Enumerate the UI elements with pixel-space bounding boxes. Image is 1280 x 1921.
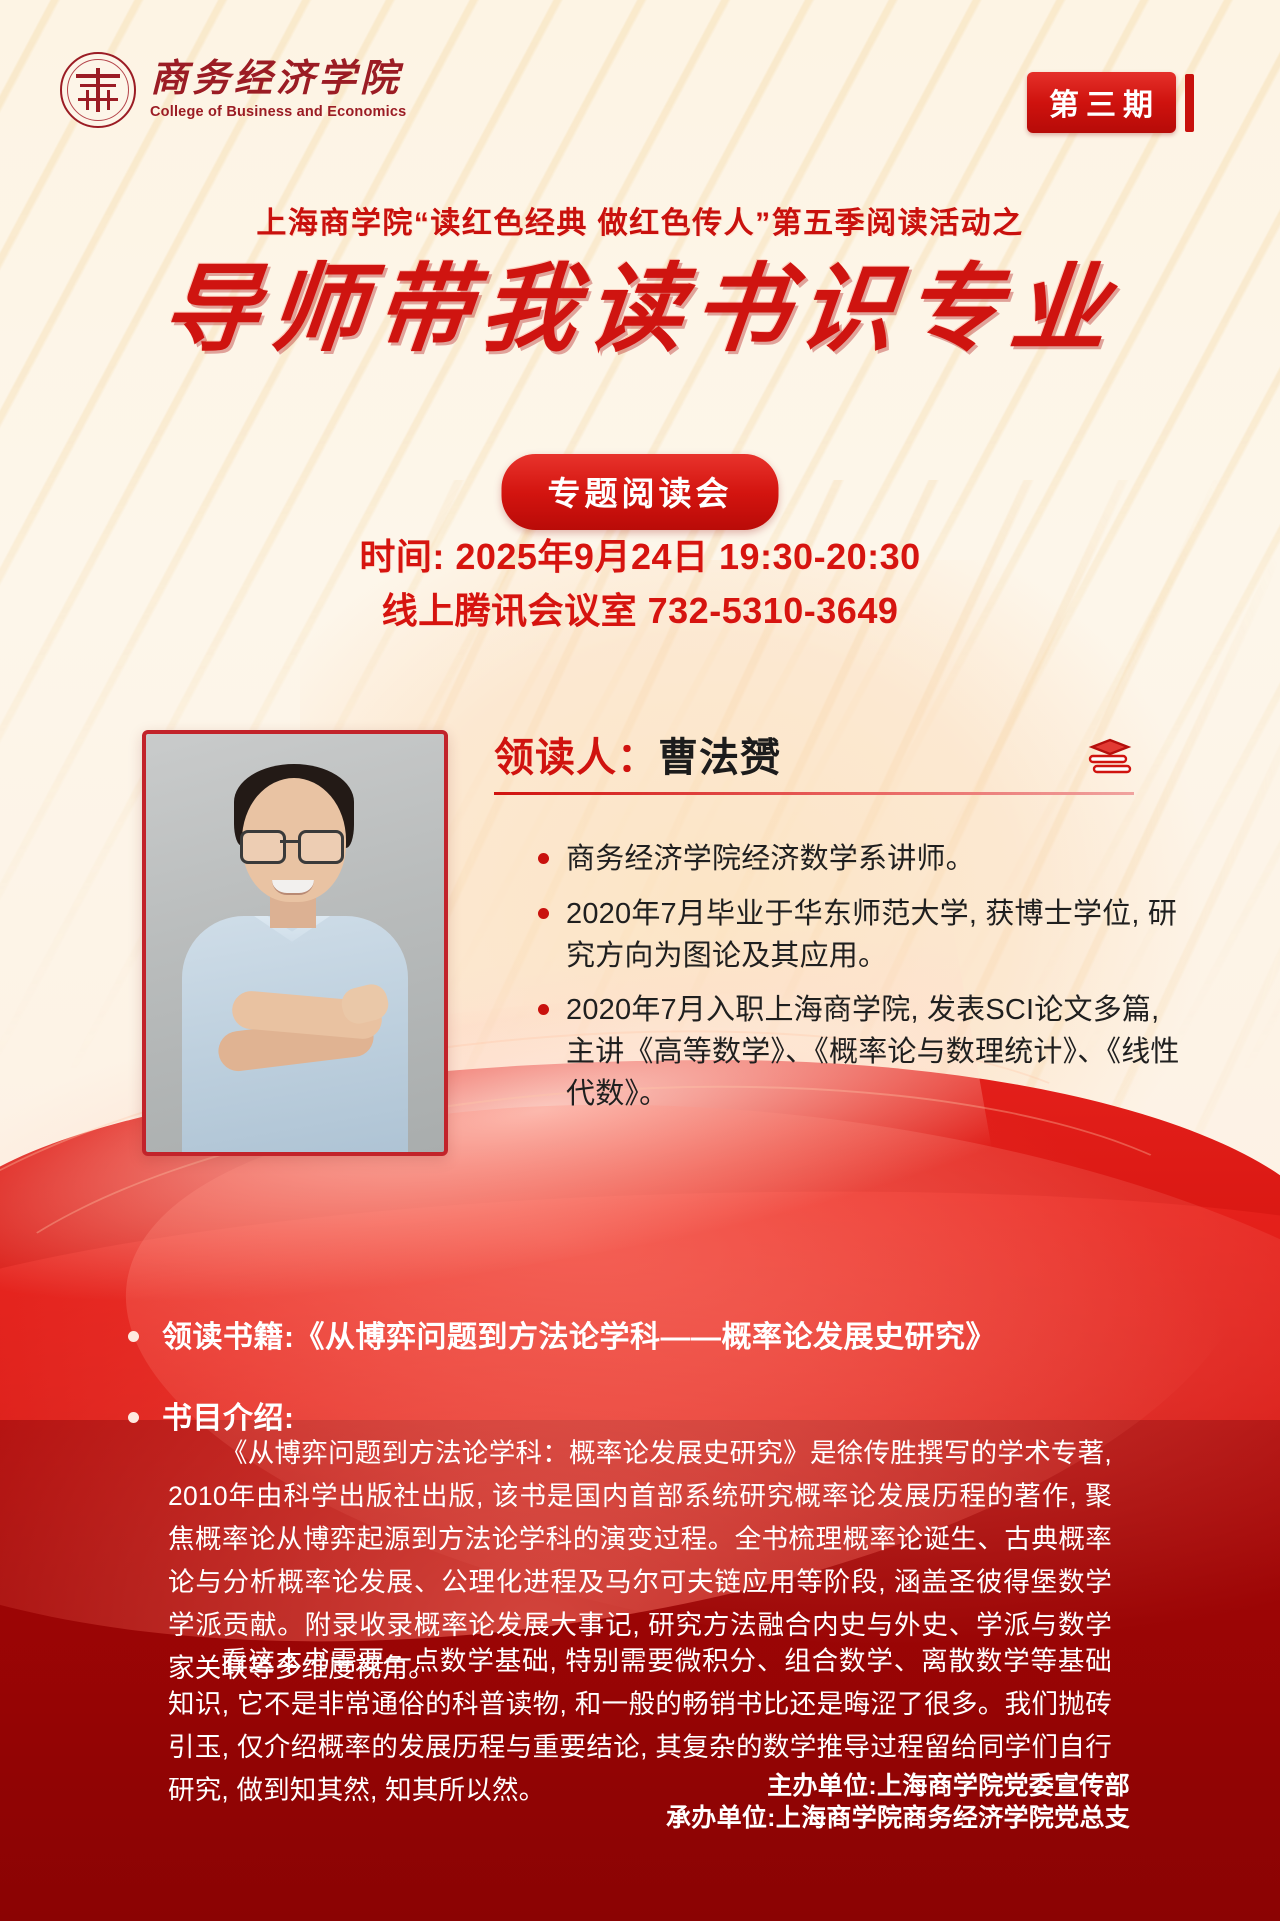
photo-glasses-left bbox=[240, 830, 286, 864]
logo-english-name: College of Business and Economics bbox=[150, 104, 406, 120]
book-title-bullet: 领读书籍:《从博弈问题到方法论学科——概率论发展史研究》 bbox=[124, 1318, 1164, 1357]
college-logo: 商务经济学院 College of Business and Economics bbox=[60, 52, 406, 128]
issue-badge: 第三期 bbox=[1027, 72, 1194, 133]
poster-root: 商务经济学院 College of Business and Economics… bbox=[0, 0, 1280, 1921]
speaker-title: 领读人：曹法赟 bbox=[494, 738, 781, 778]
list-item: 2020年7月毕业于华东师范大学, 获博士学位, 研究方向为图论及其应用。 bbox=[534, 894, 1184, 978]
photo-glasses-bridge bbox=[280, 840, 298, 843]
event-venue: 线上腾讯会议室 732-5310-3649 bbox=[0, 582, 1280, 634]
logo-chinese-name: 商务经济学院 bbox=[150, 60, 406, 100]
event-time: 时间: 2025年9月24日 19:30-20:30 bbox=[0, 528, 1280, 580]
speaker-divider bbox=[494, 792, 1134, 795]
issue-badge-bar bbox=[1185, 74, 1194, 132]
speaker-role-label: 领读人： bbox=[494, 736, 658, 780]
event-type-pill: 专题阅读会 bbox=[502, 454, 779, 530]
seal-glyph bbox=[76, 68, 120, 112]
list-item: 2020年7月入职上海商学院, 发表SCI论文多篇, 主讲《高等数学》、《概率论… bbox=[534, 990, 1184, 1115]
speaker-photo bbox=[142, 730, 448, 1156]
stacked-books-icon bbox=[1086, 736, 1134, 778]
issue-badge-label: 第三期 bbox=[1027, 72, 1176, 133]
university-seal-icon bbox=[60, 52, 136, 128]
list-item: 商务经济学院经济数学系讲师。 bbox=[534, 839, 1184, 881]
page-title: 导师带我读书识专业 bbox=[0, 258, 1280, 362]
speaker-name: 曹法赟 bbox=[658, 736, 781, 780]
event-subtitle: 上海商学院“读红色经典 做红色传人”第五季阅读活动之 bbox=[0, 198, 1280, 242]
speaker-header: 领读人：曹法赟 bbox=[494, 736, 1134, 778]
photo-glasses-right bbox=[298, 830, 344, 864]
co-organizer-line: 承办单位:上海商学院商务经济学院党总支 bbox=[370, 1800, 1130, 1838]
speaker-bio-list: 商务经济学院经济数学系讲师。 2020年7月毕业于华东师范大学, 获博士学位, … bbox=[494, 839, 1184, 1129]
